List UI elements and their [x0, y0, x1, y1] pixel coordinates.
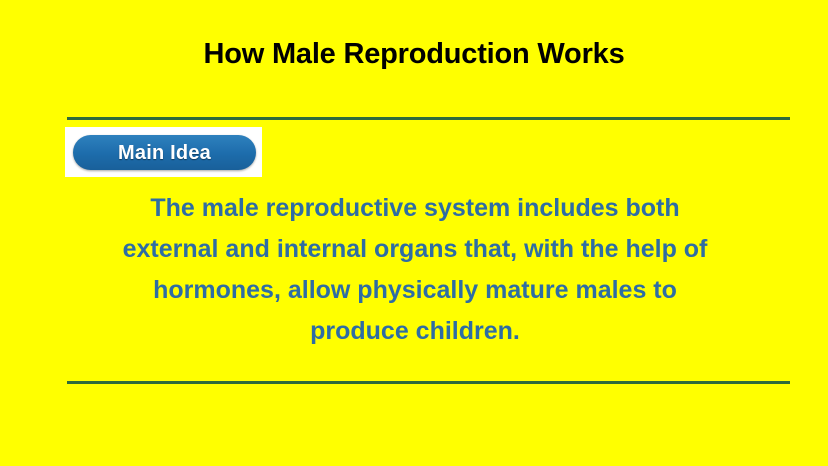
body-line: hormones, allow physically mature males … [60, 270, 770, 311]
main-idea-body-text: The male reproductive system includes bo… [60, 188, 770, 352]
main-idea-label: Main Idea [118, 143, 211, 163]
body-line: produce children. [60, 311, 770, 352]
body-line: external and internal organs that, with … [60, 229, 770, 270]
slide-canvas: How Male Reproduction Works Main Idea Th… [0, 0, 828, 466]
main-idea-pill: Main Idea [73, 135, 256, 170]
divider-top [67, 117, 790, 120]
page-title: How Male Reproduction Works [0, 36, 828, 72]
body-line: The male reproductive system includes bo… [60, 188, 770, 229]
divider-bottom [67, 381, 790, 384]
main-idea-badge: Main Idea [65, 127, 262, 177]
